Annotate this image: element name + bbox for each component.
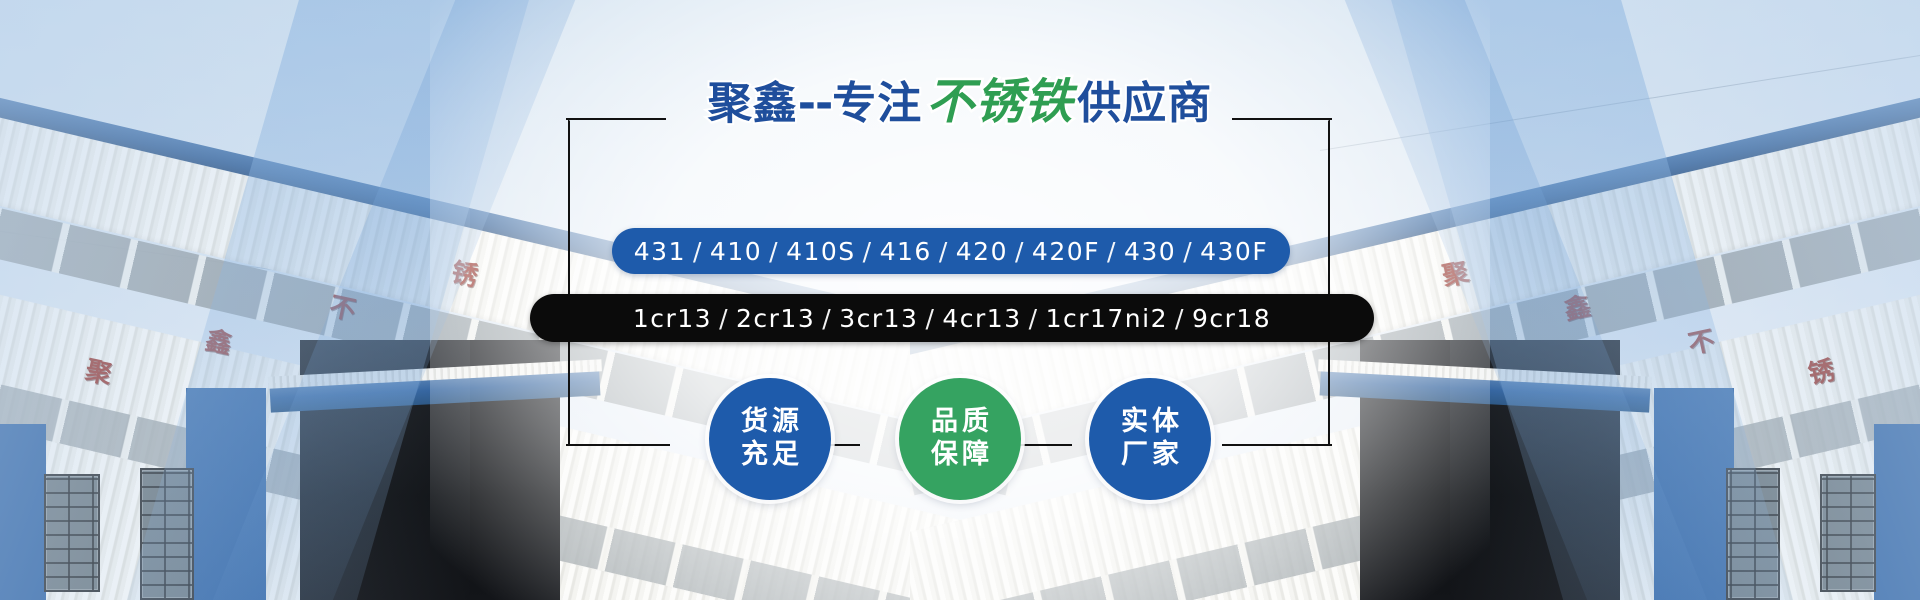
grade-label: 4cr13 — [942, 304, 1021, 333]
headline-focus: 专注 — [832, 78, 922, 129]
banner-content: 聚鑫--专注不锈铁供应商 431/410/410S/416/420/420F/4… — [0, 0, 1920, 600]
grade-separator: / — [815, 304, 839, 333]
grade-separator: / — [712, 304, 736, 333]
grade-separator: / — [1100, 237, 1124, 266]
grade-separator: / — [1008, 237, 1032, 266]
grade-label: 3cr13 — [839, 304, 918, 333]
grade-separator: / — [1176, 237, 1200, 266]
headline-highlight: 不锈铁 — [922, 74, 1077, 130]
badge-line-1: 品质 — [927, 406, 993, 439]
grade-separator: / — [1022, 304, 1046, 333]
headline-suffix: 供应商 — [1077, 78, 1212, 129]
badge-line-2: 厂家 — [1117, 439, 1183, 472]
grade-label: 416 — [880, 237, 932, 266]
badge-line-1: 实体 — [1117, 406, 1183, 439]
grade-separator: / — [856, 237, 880, 266]
badge-line-2: 保障 — [927, 439, 993, 472]
grade-label: 420F — [1032, 237, 1100, 266]
supply-badge: 货源充足 — [709, 378, 831, 500]
promo-banner: 聚 鑫 不 锈 锈 不 鑫 聚 — [0, 0, 1920, 600]
grade-separator: / — [762, 237, 786, 266]
quality-badge: 品质保障 — [899, 378, 1021, 500]
grade-label: 431 — [634, 237, 686, 266]
austenitic-grade-pill: 431/410/410S/416/420/420F/430/430F — [612, 228, 1290, 274]
factory-badge: 实体厂家 — [1089, 378, 1211, 500]
badge-line-1: 货源 — [737, 406, 803, 439]
grade-separator: / — [686, 237, 710, 266]
grade-label: 430 — [1124, 237, 1176, 266]
grade-label: 410S — [786, 237, 856, 266]
badge-line-2: 充足 — [737, 439, 803, 472]
grade-separator: / — [918, 304, 942, 333]
grade-separator: / — [1168, 304, 1192, 333]
grade-label: 410 — [710, 237, 762, 266]
grade-label: 1cr13 — [633, 304, 712, 333]
banner-headline: 聚鑫--专注不锈铁供应商 — [0, 78, 1920, 126]
grade-label: 1cr17ni2 — [1046, 304, 1168, 333]
grade-label: 430F — [1200, 237, 1268, 266]
grade-separator: / — [932, 237, 956, 266]
cr-grade-pill: 1cr13/2cr13/3cr13/4cr13/1cr17ni2/9cr18 — [530, 294, 1374, 342]
feature-badge-row: 货源充足品质保障实体厂家 — [0, 378, 1920, 500]
grade-label: 2cr13 — [736, 304, 815, 333]
headline-dash: -- — [798, 78, 833, 129]
headline-brand: 聚鑫 — [708, 78, 798, 129]
grade-label: 420 — [956, 237, 1008, 266]
grade-label: 9cr18 — [1192, 304, 1271, 333]
